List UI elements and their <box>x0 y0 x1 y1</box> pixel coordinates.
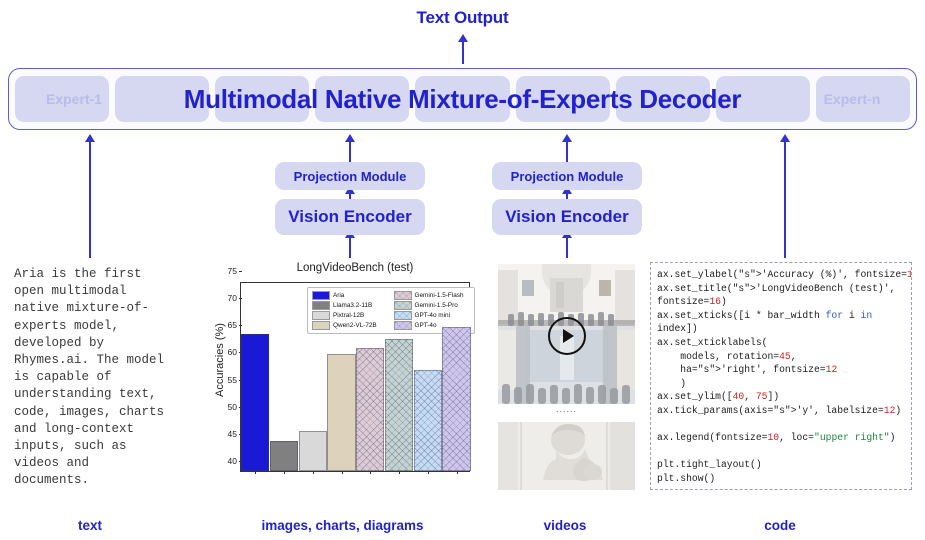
chart-bar <box>442 327 470 471</box>
chart-y-tick: 45 <box>228 429 237 439</box>
arrow-text-to-decoder <box>89 140 91 258</box>
chart-legend-swatch <box>394 301 412 310</box>
chart-legend-label: Qwen2-VL-72B <box>333 322 377 329</box>
chart-legend-swatch <box>312 321 330 330</box>
chart-modality-panel: LongVideoBench (test) Accuracies (%) Ari… <box>206 262 474 490</box>
chart-legend-item: Pixtral-12B <box>312 311 389 320</box>
chart-x-tick <box>428 471 429 474</box>
vision-encoder-left[interactable]: Vision Encoder <box>275 199 425 235</box>
chart-legend-swatch <box>394 311 412 320</box>
video-frame-gallery <box>498 264 635 404</box>
video-modality-panel: ...... <box>498 264 635 490</box>
statue-illustration <box>498 422 635 490</box>
chart-x-tick <box>284 471 285 474</box>
chart-x-tick <box>399 471 400 474</box>
chart-x-tick <box>457 471 458 474</box>
chart-bar <box>414 370 442 472</box>
expert-cell <box>516 76 610 122</box>
chart-legend-swatch <box>394 291 412 300</box>
caption-code: code <box>715 518 845 533</box>
arrow-videos-to-vision-right <box>566 236 568 258</box>
expert-cell <box>415 76 509 122</box>
chart-y-tick: 50 <box>228 402 237 412</box>
chart-y-tick: 65 <box>228 320 237 330</box>
text-modality-panel: Aria is the first open multimodal native… <box>14 266 199 490</box>
arrow-code-to-decoder <box>784 140 786 258</box>
chart-y-axis-label: Accuracies (%) <box>214 280 226 440</box>
chart-plot-area: AriaGemini-1.5-FlashLlama3.2-11BGemini-1… <box>240 282 470 472</box>
arrow-to-text-output <box>462 40 464 64</box>
chart-bar <box>241 334 269 471</box>
chart-legend-item: Qwen2-VL-72B <box>312 321 389 330</box>
chart-x-tick <box>370 471 371 474</box>
chart-bar <box>299 431 327 471</box>
caption-videos: videos <box>505 518 625 533</box>
chart-y-tick: 60 <box>228 347 237 357</box>
caption-text: text <box>40 518 140 533</box>
expert-cell <box>15 76 109 122</box>
expert-cell <box>716 76 810 122</box>
video-frames-ellipsis: ...... <box>498 404 635 416</box>
chart-y-tick: 40 <box>228 456 237 466</box>
chart-bar <box>327 354 355 471</box>
chart-y-tick: 75 <box>228 266 237 276</box>
code-modality-panel[interactable]: ax.set_ylabel("s">'Accuracy (%)', fontsi… <box>650 262 912 490</box>
expert-cell <box>816 76 910 122</box>
projection-module-left[interactable]: Projection Module <box>275 162 425 190</box>
chart-legend-swatch <box>312 301 330 310</box>
expert-cell <box>115 76 209 122</box>
chart-bar <box>385 339 413 471</box>
arrow-projection-right-to-decoder <box>566 140 568 162</box>
vision-encoder-right[interactable]: Vision Encoder <box>492 199 642 235</box>
arrow-images-to-vision-left <box>349 236 351 258</box>
chart-legend-label: GPT-4o <box>415 322 437 329</box>
caption-images: images, charts, diagrams <box>235 518 450 533</box>
chart-legend-item: Gemini-1.5-Flash <box>394 291 471 300</box>
chart-title: LongVideoBench (test) <box>236 262 474 274</box>
chart-legend-item: GPT-4o mini <box>394 311 471 320</box>
chart-legend-swatch <box>312 311 330 320</box>
chart-legend-item: Aria <box>312 291 389 300</box>
chart-legend-label: Aria <box>333 292 344 299</box>
chart-x-tick <box>313 471 314 474</box>
chart-bar <box>270 441 298 471</box>
expert-cell <box>616 76 710 122</box>
chart-legend-label: Gemini-1.5-Flash <box>415 292 464 299</box>
projection-module-right[interactable]: Projection Module <box>492 162 642 190</box>
text-output-label: Text Output <box>0 8 925 28</box>
chart-bar <box>356 348 384 471</box>
chart-x-tick <box>342 471 343 474</box>
arrow-projection-left-to-decoder <box>349 140 351 162</box>
chart-legend-swatch <box>312 291 330 300</box>
video-frame-statue <box>498 422 635 490</box>
chart-y-tick: 70 <box>228 293 237 303</box>
chart-legend-swatch <box>394 321 412 330</box>
play-button-icon[interactable] <box>548 317 586 355</box>
chart-legend-item: Gemini-1.5-Pro <box>394 301 471 310</box>
expert-cell <box>215 76 309 122</box>
chart-y-tick: 55 <box>228 375 237 385</box>
moe-decoder-bar[interactable] <box>8 68 917 130</box>
chart-legend-item: Llama3.2-11B <box>312 301 389 310</box>
chart-x-tick <box>255 471 256 474</box>
chart-legend-label: Llama3.2-11B <box>333 302 372 309</box>
chart-legend-label: Pixtral-12B <box>333 312 364 319</box>
chart-legend-label: GPT-4o mini <box>415 312 451 319</box>
expert-cell <box>315 76 409 122</box>
chart-legend-label: Gemini-1.5-Pro <box>415 302 458 309</box>
